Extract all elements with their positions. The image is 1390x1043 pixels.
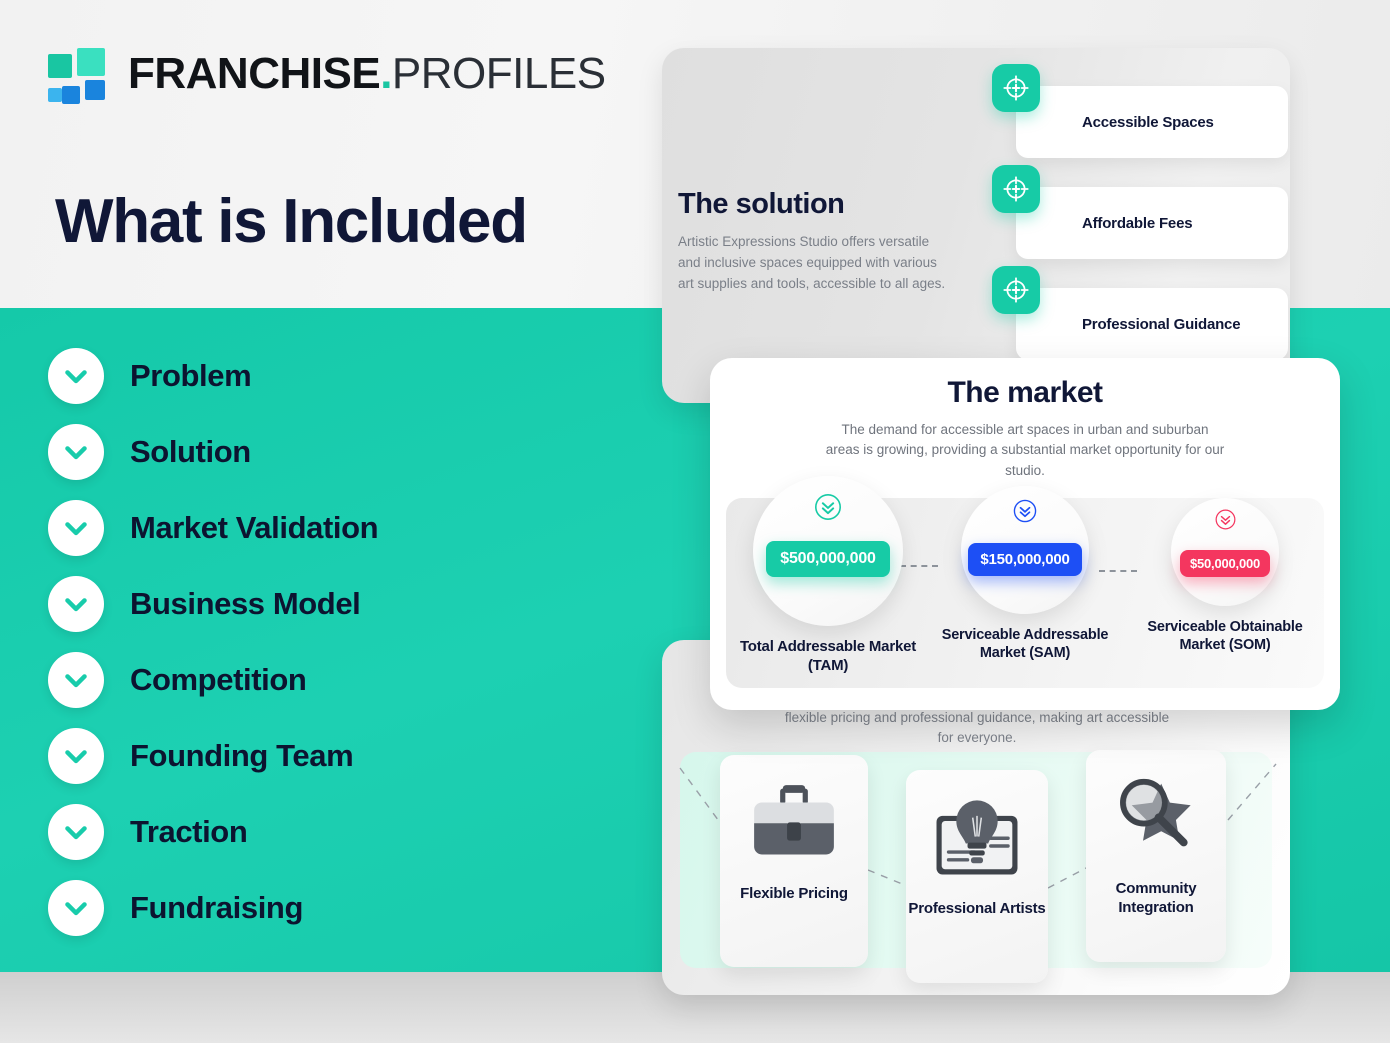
chevron-down-icon — [48, 652, 104, 708]
market-card: The market The demand for accessible art… — [710, 358, 1340, 710]
double-chevron-down-circle-icon — [1012, 498, 1038, 529]
brand-logo[interactable]: FRANCHISE.PROFILES — [48, 48, 606, 100]
market-segment-caption: Serviceable Addressable Market (SAM) — [933, 626, 1118, 662]
double-chevron-down-circle-icon — [813, 492, 843, 527]
briefcase-icon — [742, 769, 846, 881]
toc-item-label: Problem — [130, 358, 251, 394]
target-crosshair-icon — [992, 165, 1040, 213]
feature-item[interactable]: Flexible Pricing — [720, 755, 868, 967]
chevron-down-icon — [48, 576, 104, 632]
solution-item-label: Professional Guidance — [1082, 316, 1240, 333]
toc-item-label: Fundraising — [130, 890, 303, 926]
solution-item-chip: Accessible Spaces — [1016, 86, 1288, 158]
toc-item-label: Market Validation — [130, 510, 378, 546]
toc-item-fundraising[interactable]: Fundraising — [48, 880, 378, 936]
squares-logo-icon — [48, 48, 108, 100]
solution-item[interactable]: Accessible Spaces — [992, 48, 1290, 149]
toc-item-label: Founding Team — [130, 738, 353, 774]
toc-item-label: Business Model — [130, 586, 360, 622]
brand-name-light: PROFILES — [392, 49, 606, 98]
solution-item-label: Accessible Spaces — [1082, 114, 1214, 131]
solution-item[interactable]: Professional Guidance — [992, 250, 1290, 351]
chevron-down-icon — [48, 500, 104, 556]
solution-items: Accessible SpacesAffordable FeesProfessi… — [992, 48, 1290, 351]
market-segment-value: $50,000,000 — [1180, 550, 1270, 577]
target-crosshair-icon — [992, 64, 1040, 112]
solution-item[interactable]: Affordable Fees — [992, 149, 1290, 250]
feature-item[interactable]: Professional Artists — [906, 770, 1048, 983]
brand-name-bold: FRANCHISE — [128, 49, 380, 98]
feature-item[interactable]: Community Integration — [1086, 750, 1226, 962]
toc-item-problem[interactable]: Problem — [48, 348, 378, 404]
toc-item-label: Traction — [130, 814, 247, 850]
toc-item-market-validation[interactable]: Market Validation — [48, 500, 378, 556]
market-segment-circle: $150,000,000 — [961, 486, 1089, 614]
award-magnifier-icon — [1102, 764, 1210, 876]
toc-item-business-model[interactable]: Business Model — [48, 576, 378, 632]
solution-item-chip: Professional Guidance — [1016, 288, 1288, 360]
brand-wordmark: FRANCHISE.PROFILES — [128, 52, 606, 96]
market-segment[interactable]: $500,000,000Total Addressable Market (TA… — [728, 476, 928, 676]
slide-canvas: FRANCHISE.PROFILES What is Included Prob… — [0, 0, 1390, 1043]
market-segment-caption: Total Addressable Market (TAM) — [736, 638, 921, 676]
solution-description: Artistic Expressions Studio offers versa… — [678, 232, 953, 295]
lightbulb-presentation-icon — [921, 784, 1033, 896]
target-crosshair-icon — [992, 266, 1040, 314]
market-segment-circle: $50,000,000 — [1171, 498, 1279, 606]
toc-item-solution[interactable]: Solution — [48, 424, 378, 480]
solution-card: The solution Artistic Expressions Studio… — [662, 48, 1290, 403]
double-chevron-down-circle-icon — [1214, 508, 1237, 536]
toc-item-competition[interactable]: Competition — [48, 652, 378, 708]
market-segments: $500,000,000Total Addressable Market (TA… — [710, 358, 1340, 710]
feature-item-label: Community Integration — [1086, 880, 1226, 918]
solution-item-label: Affordable Fees — [1082, 215, 1192, 232]
toc-item-founding-team[interactable]: Founding Team — [48, 728, 378, 784]
chevron-down-icon — [48, 728, 104, 784]
market-segment-value: $150,000,000 — [968, 543, 1081, 576]
solution-item-chip: Affordable Fees — [1016, 187, 1288, 259]
chevron-down-icon — [48, 804, 104, 860]
brand-name-dot: . — [380, 49, 392, 98]
chevron-down-icon — [48, 880, 104, 936]
market-segment-circle: $500,000,000 — [753, 476, 903, 626]
toc-item-traction[interactable]: Traction — [48, 804, 378, 860]
feature-item-label: Flexible Pricing — [740, 885, 848, 904]
included-list: ProblemSolutionMarket ValidationBusiness… — [48, 348, 378, 936]
solution-title: The solution — [678, 188, 844, 221]
toc-item-label: Competition — [130, 662, 306, 698]
market-segment-caption: Serviceable Obtainable Market (SOM) — [1133, 618, 1318, 654]
market-segment[interactable]: $150,000,000Serviceable Addressable Mark… — [925, 486, 1125, 662]
market-segment[interactable]: $50,000,000Serviceable Obtainable Market… — [1125, 498, 1325, 654]
feature-item-label: Professional Artists — [908, 900, 1045, 919]
toc-item-label: Solution — [130, 434, 251, 470]
page-title: What is Included — [55, 186, 527, 257]
chevron-down-icon — [48, 424, 104, 480]
market-segment-value: $500,000,000 — [766, 541, 889, 577]
chevron-down-icon — [48, 348, 104, 404]
